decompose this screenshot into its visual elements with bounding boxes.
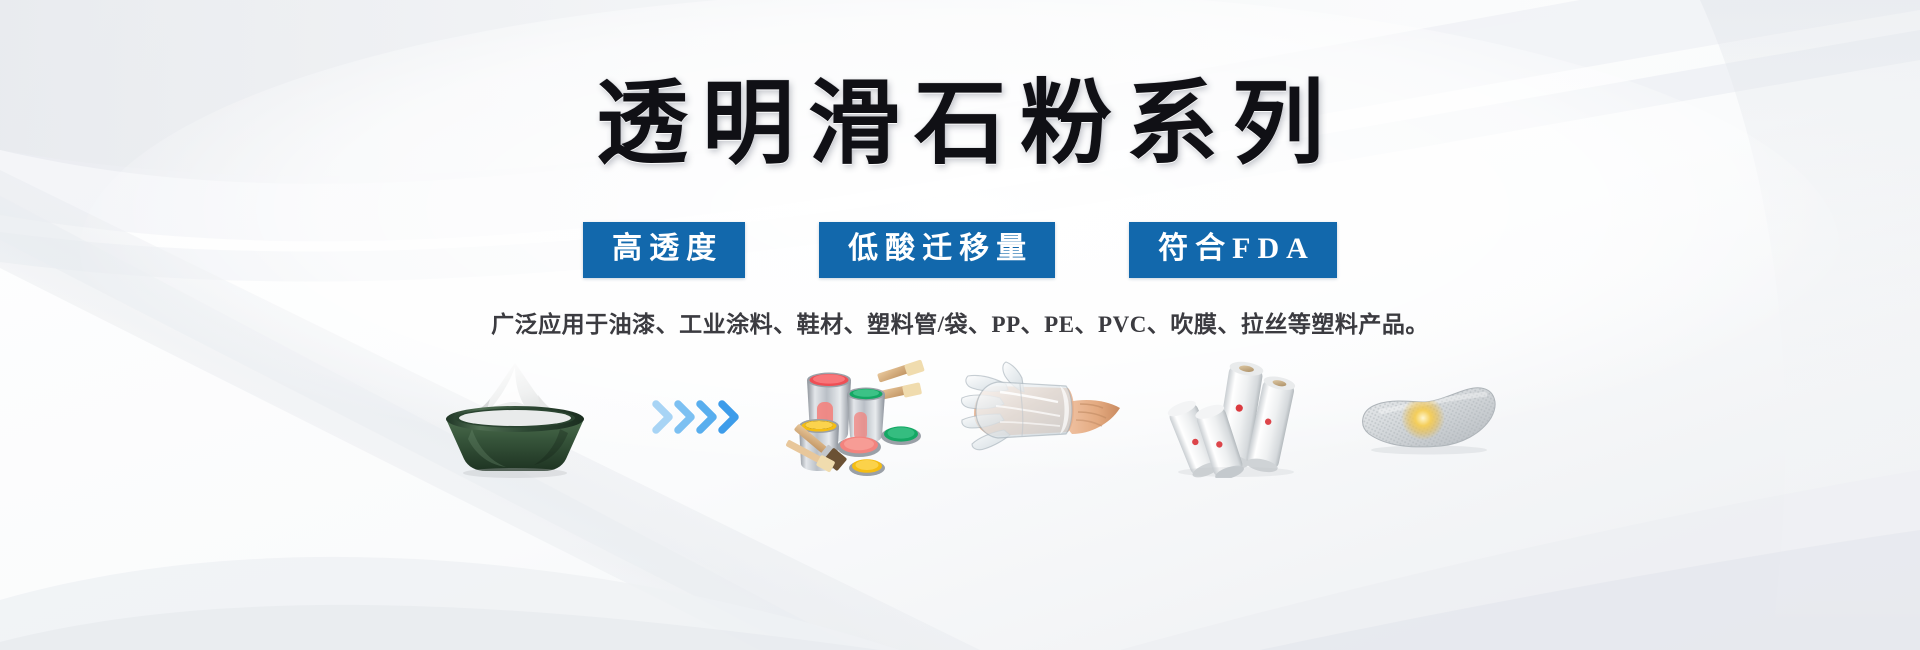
application-image-paint-cans [781,352,931,482]
product-banner: 透明滑石粉系列 高透度 低酸迁移量 符合FDA 广泛应用于油漆、工业涂料、鞋材、… [0,0,1920,650]
feature-badge-1[interactable]: 高透度 [583,222,745,278]
paint-brush-upper-1 [877,359,925,382]
process-arrow-group [643,352,753,482]
chevron-right-icon [650,396,746,438]
subtitle-container: 广泛应用于油漆、工业涂料、鞋材、塑料管/袋、PP、PE、PVC、吹膜、拉丝等塑料… [0,305,1920,339]
paint-can-green [847,388,885,444]
feature-badge-2[interactable]: 低酸迁移量 [819,222,1055,278]
strip-spacer-5 [1317,417,1345,418]
headline-container: 透明滑石粉系列 [0,78,1920,172]
paint-cans-icon [781,354,931,480]
strip-spacer-4 [1129,417,1157,418]
strip-spacer-3 [931,417,959,418]
plastic-film-rolls-icon [1158,356,1316,478]
talc-powder-bowl-icon [420,355,610,479]
paint-lid-green [881,426,921,445]
application-image-strip [0,352,1920,482]
shoe-sole-icon [1349,362,1501,472]
paint-lid-yellow [849,459,885,476]
strip-spacer-2 [753,417,781,418]
application-image-film-rolls [1157,352,1317,482]
application-image-talc-powder-bowl [415,352,615,482]
application-description: 广泛应用于油漆、工业涂料、鞋材、塑料管/袋、PP、PE、PVC、吹膜、拉丝等塑料… [491,305,1429,339]
strip-spacer-1 [615,417,643,418]
feature-badge-3[interactable]: 符合FDA [1129,222,1337,278]
plastic-glove-hand-icon [960,358,1128,476]
feature-badge-row: 高透度 低酸迁移量 符合FDA [0,222,1920,278]
application-image-plastic-glove [959,352,1129,482]
application-image-shoe-sole [1345,352,1505,482]
page-title: 透明滑石粉系列 [582,78,1338,172]
